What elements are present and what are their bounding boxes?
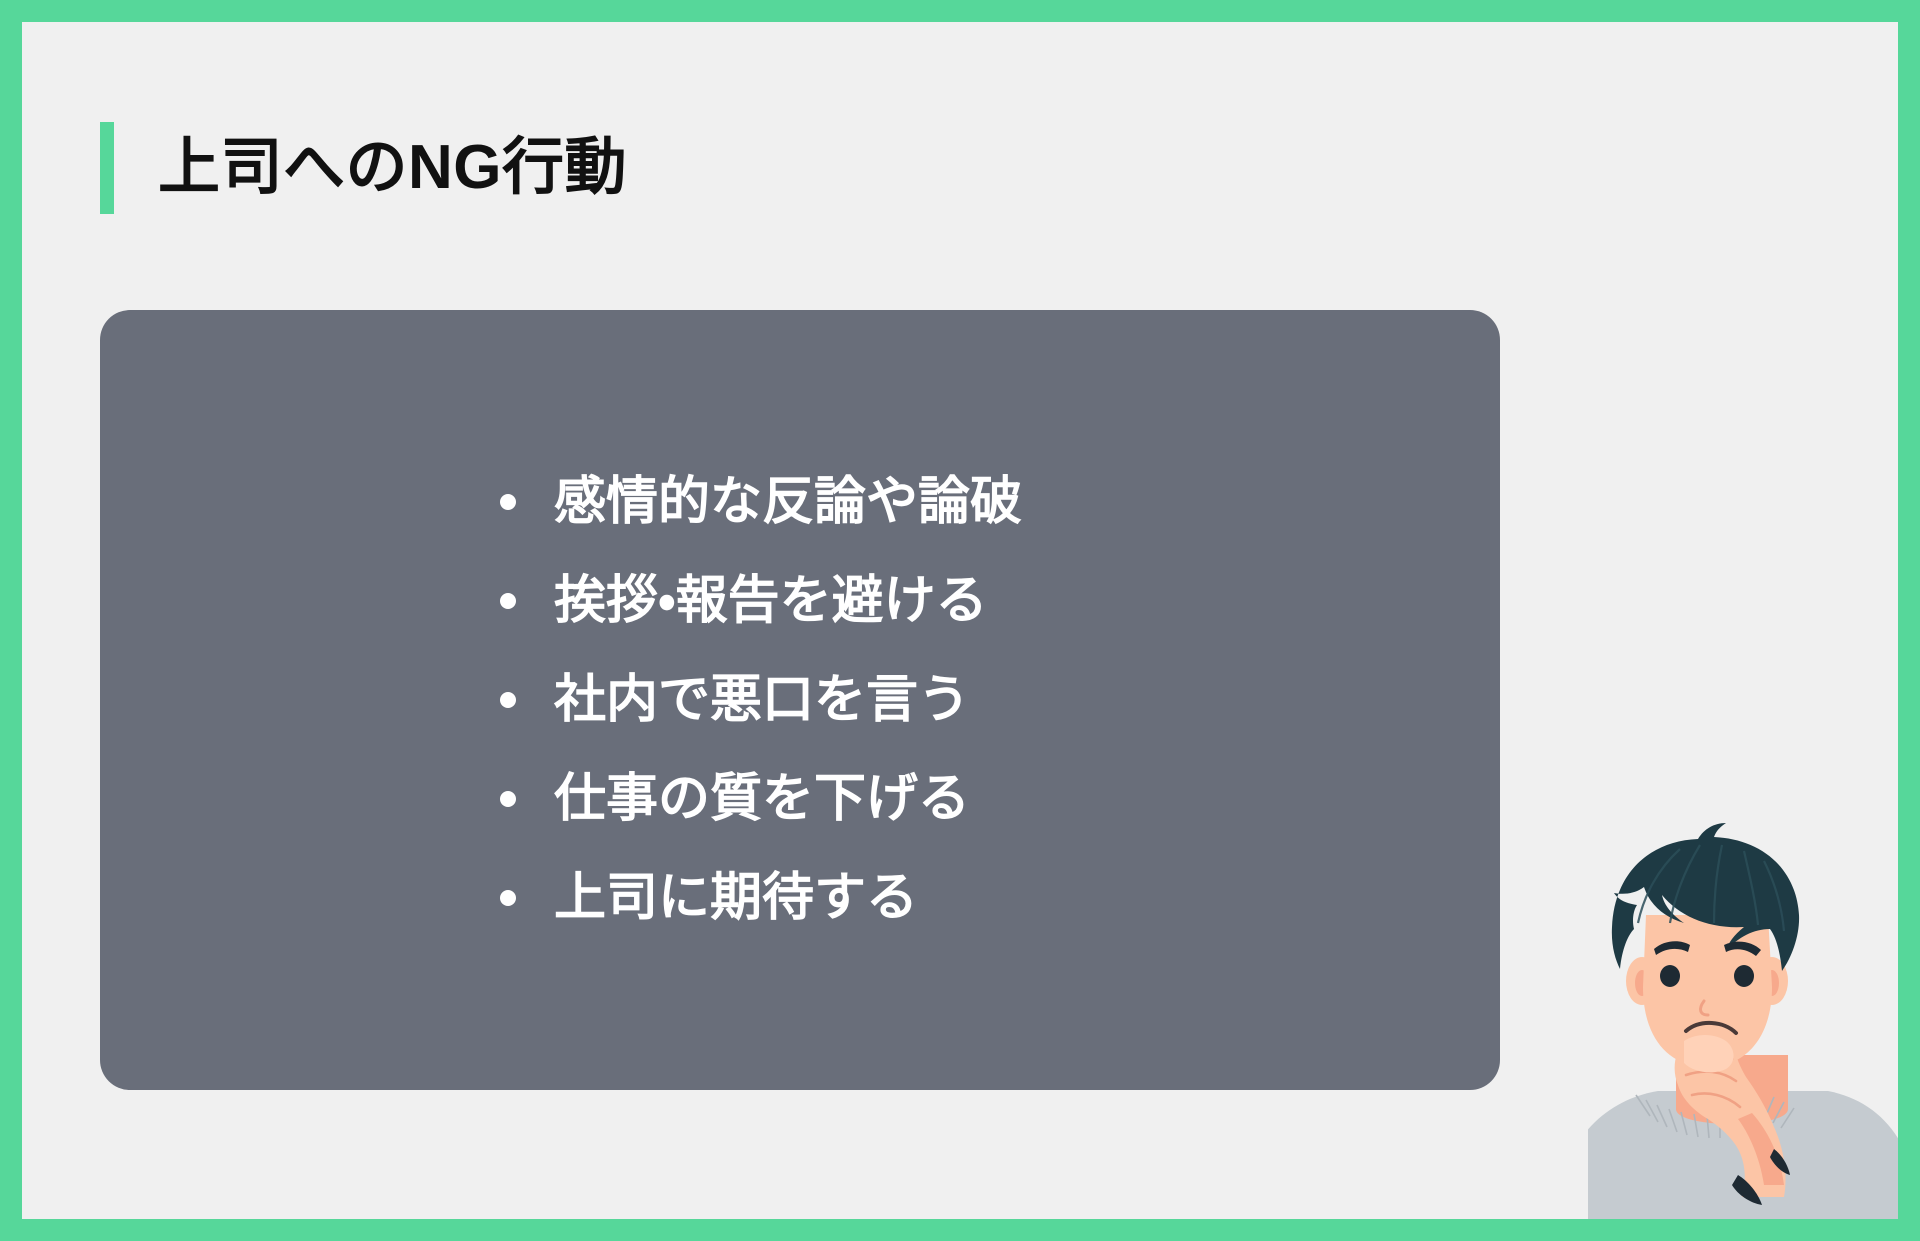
list-item-label: 社内で悪口を言う [554, 673, 970, 728]
slide-canvas: 上司へのNG行動 感情的な反論や論破 挨拶・報告を避ける 社内で悪口を言う 仕事… [22, 22, 1898, 1219]
bullet-dot-icon [500, 890, 516, 906]
content-card: 感情的な反論や論破 挨拶・報告を避ける 社内で悪口を言う 仕事の質を下げる 上司… [100, 310, 1500, 1090]
thinking-man-svg [1588, 819, 1898, 1219]
bullet-dot-icon [500, 593, 516, 609]
list-item-label: 仕事の質を下げる [554, 772, 970, 827]
ng-behavior-list: 感情的な反論や論破 挨拶・報告を避ける 社内で悪口を言う 仕事の質を下げる 上司… [100, 310, 1500, 1090]
list-item: 社内で悪口を言う [500, 669, 970, 731]
list-item: 上司に期待する [500, 867, 918, 929]
list-item-label: 上司に期待する [554, 871, 918, 926]
title-label: 上司へのNG行動 [158, 137, 627, 199]
bullet-dot-icon [500, 791, 516, 807]
title-accent-bar [100, 122, 114, 214]
page-title: 上司へのNG行動 [100, 122, 627, 214]
list-item: 挨拶・報告を避ける [500, 570, 988, 632]
thinking-man-illustration [1588, 819, 1898, 1219]
list-item-label: 感情的な反論や論破 [554, 475, 1022, 530]
bullet-dot-icon [500, 494, 516, 510]
list-item: 感情的な反論や論破 [500, 471, 1022, 533]
list-item: 仕事の質を下げる [500, 768, 970, 830]
list-item-label: 挨拶・報告を避ける [554, 574, 988, 629]
bullet-dot-icon [500, 692, 516, 708]
